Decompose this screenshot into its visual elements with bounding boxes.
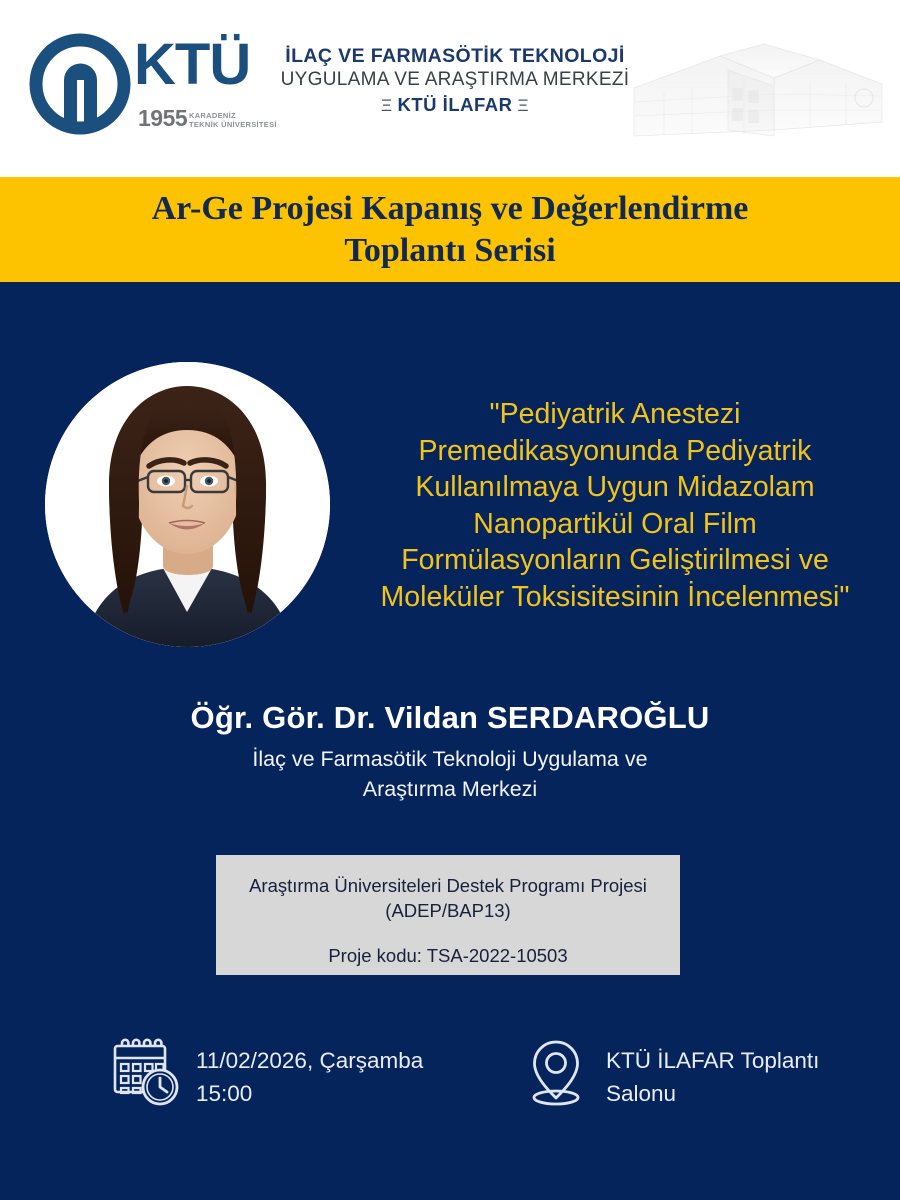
building-watermark-icon [624, 26, 892, 150]
speaker-name: Öğr. Gör. Dr. Vildan SERDAROĞLU [70, 698, 830, 738]
ktu-logo-mark-icon [28, 32, 132, 136]
calendar-clock-icon [108, 1034, 184, 1110]
event-place-line2: Salonu [606, 1077, 819, 1110]
speaker-portrait-avatar [45, 362, 330, 647]
speaker-affiliation-line1: İlaç ve Farmasötik Teknoloji Uygulama ve [70, 744, 830, 774]
ktu-logo: KTÜ 1955 KARADENİZ TEKNİK ÜNİVERSİTESİ [28, 28, 278, 146]
seminar-poster: KTÜ 1955 KARADENİZ TEKNİK ÜNİVERSİTESİ İ… [0, 0, 900, 1200]
speaker-affiliation: İlaç ve Farmasötik Teknoloji Uygulama ve… [70, 744, 830, 804]
ktu-univ-line1: KARADENİZ [189, 111, 236, 120]
event-place-text: KTÜ İLAFAR Toplantı Salonu [606, 1034, 819, 1110]
banner-title-line1: Ar-Ge Projesi Kapanış ve Değerlendirme [20, 188, 880, 230]
talk-title-line5: Formülasyonların Geliştirilmesi ve [335, 542, 895, 579]
ktu-logo-year: 1955 [138, 107, 187, 130]
talk-title-line3: Kullanılmaya Uygun Midazolam [335, 469, 895, 506]
project-program-line2: (ADEP/BAP13) [230, 898, 666, 923]
speaker-affiliation-line2: Araştırma Merkezi [70, 774, 830, 804]
center-title-line3: ΞKTÜ İLAFARΞ [265, 92, 645, 119]
poster-header: KTÜ 1955 KARADENİZ TEKNİK ÜNİVERSİTESİ İ… [0, 0, 900, 177]
poster-banner: Ar-Ge Projesi Kapanış ve Değerlendirme T… [0, 177, 900, 282]
ilafar-label: KTÜ İLAFAR [398, 94, 513, 115]
event-info-row: 11/02/2026, Çarşamba 15:00 KTÜ İLAFAR To… [0, 1030, 900, 1140]
talk-title-line4: Nanopartikül Oral Film [335, 506, 895, 543]
speaker-block: Öğr. Gör. Dr. Vildan SERDAROĞLU İlaç ve … [70, 698, 830, 804]
event-date-text: 11/02/2026, Çarşamba 15:00 [196, 1034, 423, 1110]
location-pin-icon [518, 1034, 594, 1110]
event-date-line2: 15:00 [196, 1077, 423, 1110]
event-place-line1: KTÜ İLAFAR Toplantı [606, 1044, 819, 1077]
event-date-item: 11/02/2026, Çarşamba 15:00 [108, 1034, 423, 1110]
talk-title-line1: "Pediyatrik Anestezi [335, 396, 895, 433]
event-date-line1: 11/02/2026, Çarşamba [196, 1044, 423, 1077]
center-title-line1: İLAÇ VE FARMASÖTİK TEKNOLOJİ [265, 44, 645, 68]
talk-title: "Pediyatrik Anestezi Premedikasyonunda P… [335, 396, 895, 615]
banner-title: Ar-Ge Projesi Kapanış ve Değerlendirme T… [20, 188, 880, 272]
project-code: Proje kodu: TSA-2022-10503 [230, 943, 666, 968]
project-info-box: Araştırma Üniversiteleri Destek Programı… [216, 855, 680, 975]
ktu-univ-line2: TEKNİK ÜNİVERSİTESİ [189, 120, 277, 129]
event-place-item: KTÜ İLAFAR Toplantı Salonu [518, 1034, 819, 1110]
talk-title-line2: Premedikasyonunda Pediyatrik [335, 433, 895, 470]
symbol-left-icon: Ξ [376, 96, 398, 115]
talk-title-line6: Moleküler Toksisitesinin İncelenmesi" [335, 579, 895, 616]
center-header-text: İLAÇ VE FARMASÖTİK TEKNOLOJİ UYGULAMA VE… [265, 44, 645, 119]
symbol-right-icon: Ξ [512, 96, 534, 115]
project-program-line1: Araştırma Üniversiteleri Destek Programı… [230, 873, 666, 898]
ktu-wordmark: KTÜ [134, 36, 250, 94]
center-title-line2: UYGULAMA VE ARAŞTIRMA MERKEZİ [265, 68, 645, 92]
banner-title-line2: Toplantı Serisi [20, 230, 880, 272]
